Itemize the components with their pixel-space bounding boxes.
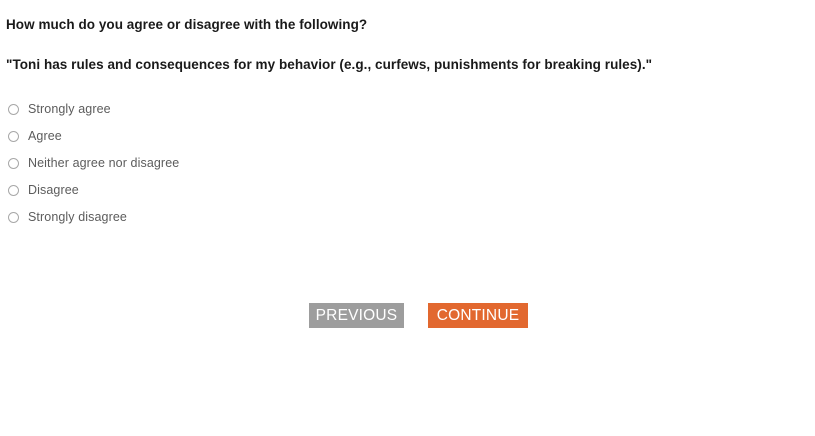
radio-button-icon[interactable]	[8, 185, 19, 196]
option-label: Strongly disagree	[28, 211, 127, 224]
option-neither-agree-nor-disagree[interactable]: Neither agree nor disagree	[8, 150, 179, 177]
continue-button[interactable]: CONTINUE	[428, 303, 528, 328]
navigation-button-bar: PREVIOUS CONTINUE	[309, 303, 528, 328]
previous-button[interactable]: PREVIOUS	[309, 303, 404, 328]
option-strongly-agree[interactable]: Strongly agree	[8, 96, 179, 123]
survey-page: How much do you agree or disagree with t…	[0, 0, 815, 436]
option-agree[interactable]: Agree	[8, 123, 179, 150]
radio-button-icon[interactable]	[8, 158, 19, 169]
option-label: Neither agree nor disagree	[28, 157, 179, 170]
option-label: Agree	[28, 130, 62, 143]
option-label: Strongly agree	[28, 103, 111, 116]
option-label: Disagree	[28, 184, 79, 197]
radio-button-icon[interactable]	[8, 212, 19, 223]
question-heading: How much do you agree or disagree with t…	[6, 16, 805, 34]
radio-button-icon[interactable]	[8, 104, 19, 115]
question-block: How much do you agree or disagree with t…	[6, 16, 805, 74]
answer-options-list: Strongly agree Agree Neither agree nor d…	[8, 96, 179, 231]
question-statement: "Toni has rules and consequences for my …	[6, 56, 805, 74]
option-strongly-disagree[interactable]: Strongly disagree	[8, 204, 179, 231]
option-disagree[interactable]: Disagree	[8, 177, 179, 204]
radio-button-icon[interactable]	[8, 131, 19, 142]
